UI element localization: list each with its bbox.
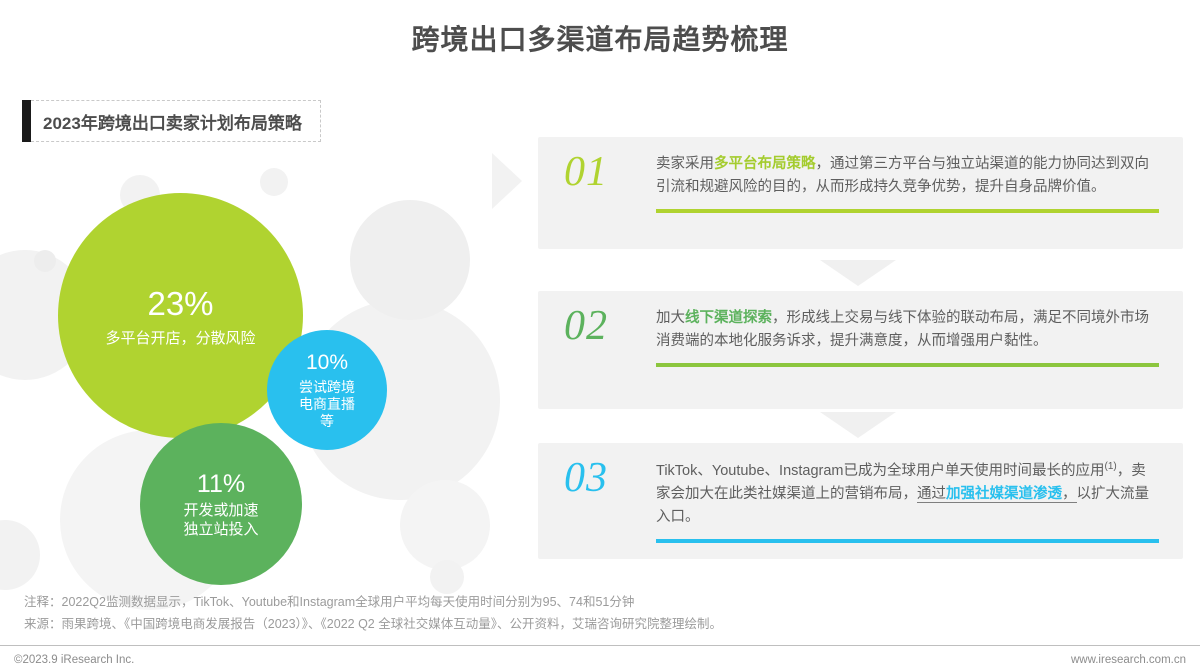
bubble-independent-site: 11% 开发或加速 独立站投入 [140, 423, 302, 585]
card-highlight: 加强社媒渠道渗透 [946, 486, 1062, 503]
note-source: 来源：雨果跨境、《中国跨境电商发展报告（2023）》、《2022 Q2 全球社交… [24, 614, 1174, 636]
bubble-value: 10% [306, 350, 348, 376]
card-text-part: 卖家采用 [656, 156, 714, 172]
bubble-chart: 23% 多平台开店，分散风险 11% 开发或加速 独立站投入 10% 尝试跨境 … [40, 175, 460, 565]
arrow-down-icon [820, 260, 896, 286]
card-number: 03 [538, 443, 656, 499]
bubble-label-line: 电商直播 [299, 396, 355, 413]
card-body: 卖家采用多平台布局策略，通过第三方平台与独立站渠道的能力协同达到双向引流和规避风… [656, 137, 1183, 213]
card-accent-rule [656, 209, 1159, 213]
subtitle-label: 2023年跨境出口卖家计划布局策略 [31, 100, 321, 142]
card-text-part: 加大 [656, 310, 685, 326]
decor-circle [0, 520, 40, 590]
card-highlight: 多平台布局策略 [714, 156, 816, 172]
footnote-marker: (1) [1105, 461, 1117, 472]
bubble-label-line: 独立站投入 [183, 521, 258, 540]
bubble-label-line: 尝试跨境 [299, 379, 355, 396]
card-body: TikTok、Youtube、Instagram已成为全球用户单天使用时间最长的… [656, 443, 1183, 543]
notes: 注释：2022Q2监测数据显示，TikTok、Youtube和Instagram… [24, 592, 1174, 636]
subtitle-tag: 2023年跨境出口卖家计划布局策略 [22, 100, 321, 142]
copyright-text: ©2023.9 iResearch Inc. [14, 654, 134, 666]
card-text-underlined: ， [1062, 486, 1077, 503]
card-body: 加大线下渠道探索，形成线上交易与线下体验的联动布局，满足不同境外市场消费端的本地… [656, 291, 1183, 367]
card-number: 02 [538, 291, 656, 347]
bubble-label-line: 开发或加速 [183, 502, 258, 521]
card-highlight: 线下渠道探索 [685, 310, 772, 326]
bubble-label: 多平台开店，分散风险 [105, 330, 255, 349]
card-text: TikTok、Youtube、Instagram已成为全球用户单天使用时间最长的… [656, 459, 1159, 529]
bubble-live-commerce: 10% 尝试跨境 电商直播 等 [267, 330, 387, 450]
insight-card-02: 02 加大线下渠道探索，形成线上交易与线下体验的联动布局，满足不同境外市场消费端… [538, 291, 1183, 409]
bubble-label: 开发或加速 独立站投入 [183, 502, 258, 540]
bubble-value: 23% [147, 283, 213, 324]
arrow-down-icon [820, 412, 896, 438]
insight-card-03: 03 TikTok、Youtube、Instagram已成为全球用户单天使用时间… [538, 443, 1183, 559]
card-accent-rule [656, 363, 1159, 367]
decor-circle [430, 560, 464, 594]
card-text: 加大线下渠道探索，形成线上交易与线下体验的联动布局，满足不同境外市场消费端的本地… [656, 307, 1159, 353]
arrow-right-icon [492, 153, 522, 209]
bubble-label-line: 等 [299, 413, 355, 430]
card-text: 卖家采用多平台布局策略，通过第三方平台与独立站渠道的能力协同达到双向引流和规避风… [656, 153, 1159, 199]
card-text-part: TikTok、Youtube、Instagram已成为全球用户单天使用时间最长的… [656, 463, 1105, 479]
card-accent-rule [656, 539, 1159, 543]
bubble-multi-platform: 23% 多平台开店，分散风险 [58, 193, 303, 438]
website-link[interactable]: www.iresearch.com.cn [1071, 654, 1186, 666]
card-number: 01 [538, 137, 656, 193]
page-title: 跨境出口多渠道布局趋势梳理 [0, 18, 1200, 58]
bubble-value: 11% [197, 469, 245, 500]
footer-divider [0, 645, 1200, 646]
card-text-underlined: 通过 [917, 486, 946, 503]
subtitle-accent-bar [22, 100, 31, 142]
note-annotation: 注释：2022Q2监测数据显示，TikTok、Youtube和Instagram… [24, 592, 1174, 614]
insight-card-01: 01 卖家采用多平台布局策略，通过第三方平台与独立站渠道的能力协同达到双向引流和… [538, 137, 1183, 249]
footer: ©2023.9 iResearch Inc. www.iresearch.com… [0, 650, 1200, 670]
bubble-label: 尝试跨境 电商直播 等 [299, 379, 355, 429]
